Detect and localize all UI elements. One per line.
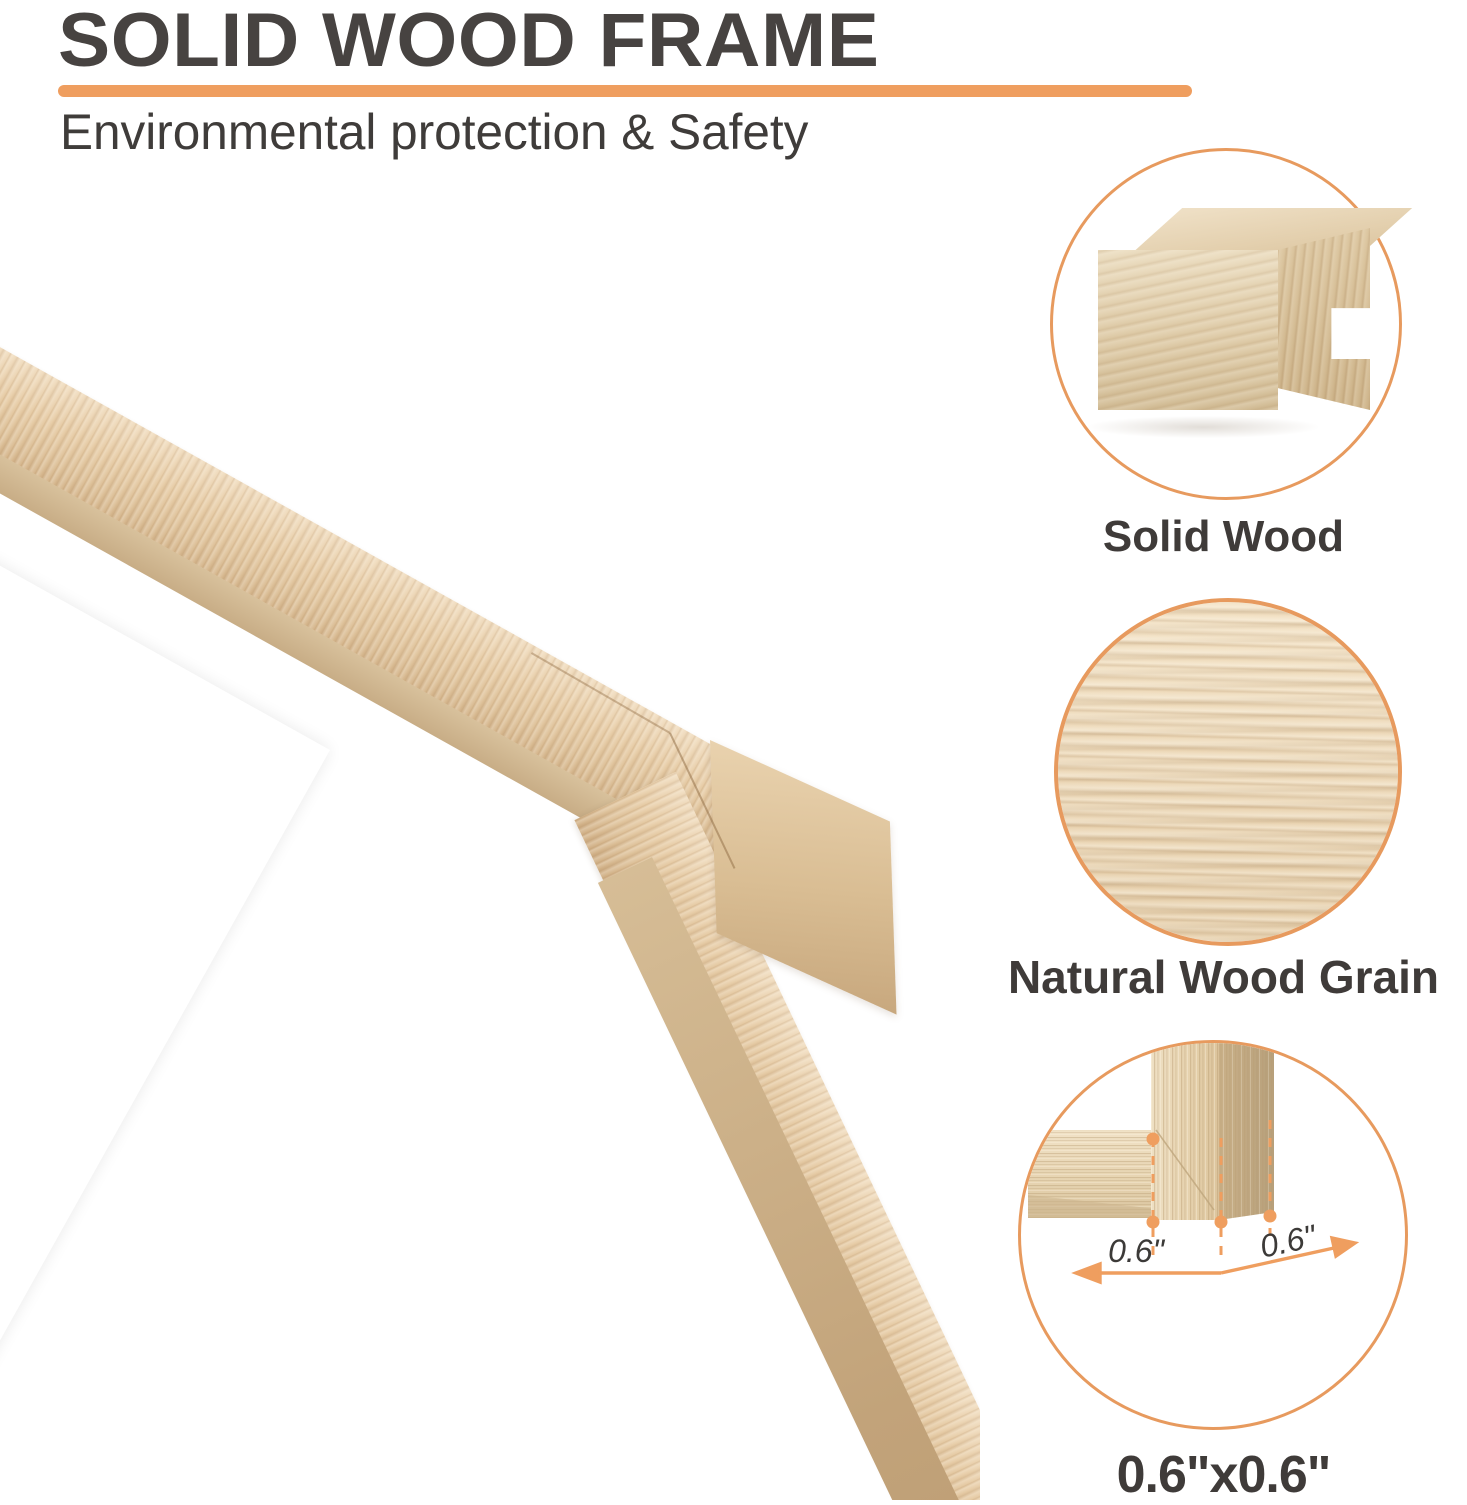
title-underline-rule <box>58 85 1192 97</box>
dimension-label-right: 0.6" <box>1257 1217 1321 1264</box>
callout-label-natural-wood-grain: Natural Wood Grain <box>980 950 1467 1004</box>
callout-label-frame-dimensions: 0.6"x0.6" <box>980 1445 1467 1505</box>
page-title: SOLID WOOD FRAME <box>58 2 879 80</box>
product-photo-wood-frame: les <box>0 140 980 1500</box>
frame-post-front-face <box>1151 1040 1219 1220</box>
block-front-face <box>1098 250 1278 410</box>
frame-post-side-face <box>1219 1040 1274 1220</box>
feature-callout-column: Solid Wood Natural Wood Grain <box>980 140 1467 1500</box>
block-rabbet-end-face <box>1278 228 1370 410</box>
dimension-label-left: 0.6" <box>1108 1233 1165 1269</box>
frame-corner-dimension-icon: 0.6" 0.6" <box>1018 1040 1408 1430</box>
callout-label-solid-wood: Solid Wood <box>980 512 1467 562</box>
wood-profile-block-icon <box>1098 208 1378 438</box>
block-drop-shadow <box>1088 416 1318 438</box>
callout-circle-ring <box>1054 598 1402 946</box>
